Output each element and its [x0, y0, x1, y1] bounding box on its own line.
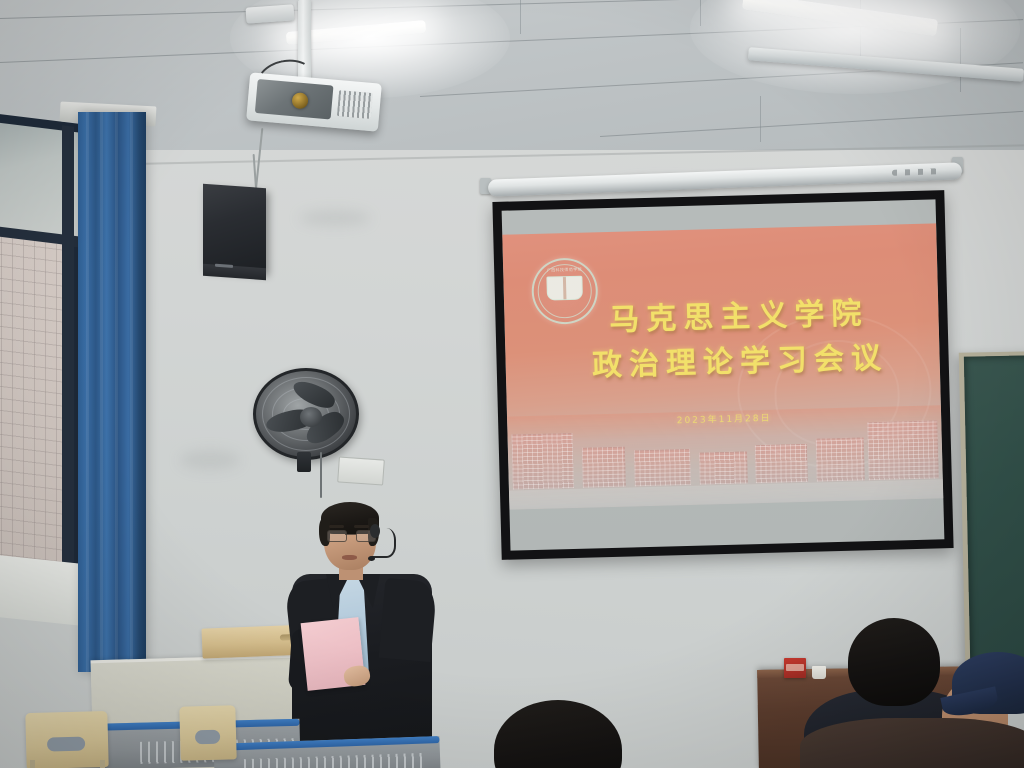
classroom-chair-left[interactable] [25, 711, 108, 768]
chair-leg-left [30, 760, 35, 768]
emblem-book-icon [547, 276, 584, 301]
chair-leg-right [100, 760, 105, 768]
slide-photo-water [509, 480, 943, 510]
fan-wall-switch[interactable] [337, 456, 385, 485]
ceiling-light-right [742, 0, 938, 37]
presenter-mouth [342, 555, 357, 560]
screen-surface: 广西科技师范学院 马克思主义学院 政治理论学习会议 2023年11月28日 [502, 199, 945, 550]
presenter-brow-right [354, 525, 369, 528]
fan-power-cord [320, 452, 322, 498]
wall-speaker [203, 184, 266, 272]
audience-front-center [478, 700, 638, 768]
classroom-chair-right[interactable] [179, 705, 236, 760]
slide-title-block: 马克思主义学院 政治理论学习会议 [504, 289, 940, 390]
window-mullion-vertical [62, 125, 74, 576]
presentation-slide: 广西科技师范学院 马克思主义学院 政治理论学习会议 2023年11月28日 [502, 223, 943, 510]
presenter-brow-left [329, 525, 344, 528]
audience-bottom-right [800, 718, 1024, 768]
red-box-on-counter [784, 658, 806, 678]
presenter-shoulder-right [379, 578, 438, 662]
headset-mic-boom [372, 528, 396, 558]
fan-cage [253, 368, 359, 460]
projection-screen: 广西科技师范学院 马克思主义学院 政治理论学习会议 2023年11月28日 [492, 190, 953, 560]
ceiling [0, 0, 1024, 172]
eyeglasses-icon [327, 530, 374, 540]
classroom-photo-scene: 广西科技师范学院 马克思主义学院 政治理论学习会议 2023年11月28日 [0, 0, 1024, 768]
presenter [282, 500, 442, 768]
chair-handle-slot [47, 736, 85, 752]
window-curtain[interactable] [78, 112, 146, 672]
headset-mic-tip [368, 556, 375, 561]
projector-mount-bracket [246, 4, 295, 23]
fan-mount [297, 452, 311, 472]
fan-hub [300, 407, 322, 427]
chalkboard-surface [964, 355, 1024, 660]
window-tiled-view [0, 236, 62, 575]
projector-vent [337, 90, 373, 119]
wall-mounted-fan[interactable] [253, 368, 359, 460]
roller-vent-dots [892, 168, 944, 176]
chair-handle-slot [194, 729, 220, 744]
